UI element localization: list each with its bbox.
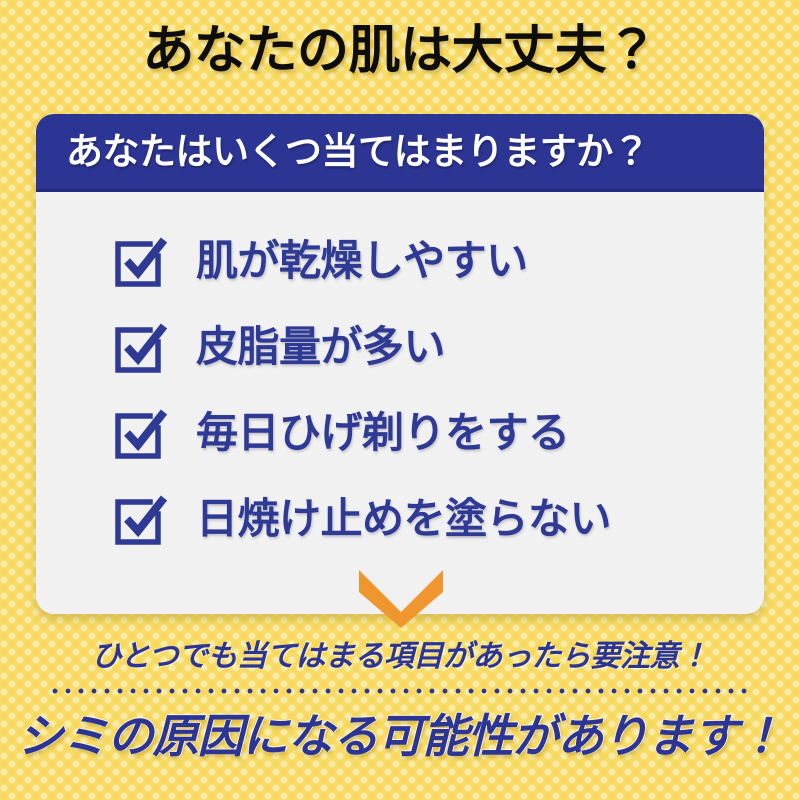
list-item-label: 毎日ひげ剃りをする <box>196 412 570 454</box>
card-header: あなたはいくつ当てはまりますか？ <box>36 114 764 192</box>
page-title: あなたの肌は大丈夫？ <box>0 22 800 80</box>
list-item[interactable]: 毎日ひげ剃りをする <box>114 390 764 476</box>
checklist: 肌が乾燥しやすい 皮脂量が多い 毎日ひげ剃りをする <box>36 192 764 562</box>
conclusion-text: シミの原因になる可能性があります！ <box>0 708 800 766</box>
checklist-card: あなたはいくつ当てはまりますか？ 肌が乾燥しやすい 皮脂量が多い <box>36 114 764 614</box>
checked-checkbox-icon <box>114 320 168 374</box>
list-item[interactable]: 日焼け止めを塗らない <box>114 476 764 562</box>
chevron-down-icon <box>353 566 449 628</box>
warning-note: ひとつでも当てはまる項目があったら要注意！ <box>0 642 800 672</box>
list-item[interactable]: 皮脂量が多い <box>114 304 764 390</box>
card-header-question: あなたはいくつ当てはまりますか？ <box>66 133 649 170</box>
dotted-divider <box>52 688 748 694</box>
poster-canvas: あなたの肌は大丈夫？ あなたはいくつ当てはまりますか？ 肌が乾燥しやすい 皮脂量… <box>0 0 800 800</box>
list-item[interactable]: 肌が乾燥しやすい <box>114 218 764 304</box>
list-item-label: 皮脂量が多い <box>196 326 445 368</box>
checked-checkbox-icon <box>114 406 168 460</box>
checked-checkbox-icon <box>114 234 168 288</box>
list-item-label: 肌が乾燥しやすい <box>196 240 528 282</box>
list-item-label: 日焼け止めを塗らない <box>196 498 611 540</box>
checked-checkbox-icon <box>114 492 168 546</box>
